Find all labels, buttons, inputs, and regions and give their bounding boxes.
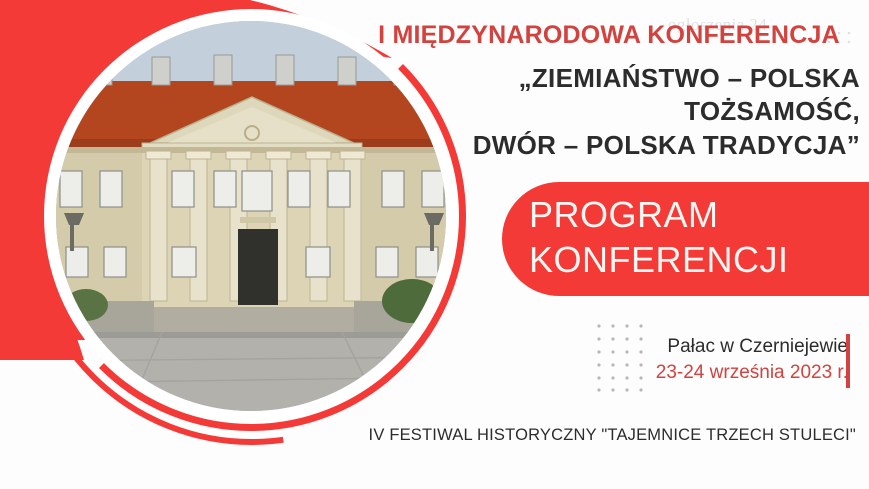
conference-poster: ogłoszenia 24 I MIĘDZYNARODOWA KONFERENC… <box>0 0 869 489</box>
venue-block: Pałac w Czerniejewie 23-24 września 2023… <box>648 334 848 386</box>
banner-line-2: KONFERENCJI <box>529 237 789 282</box>
page-title: I MIĘDZYNARODOWA KONFERENCJA <box>360 22 858 48</box>
venue-date: 23-24 września 2023 r. <box>648 360 848 386</box>
program-banner: PROGRAM KONFERENCJI <box>502 182 869 296</box>
subtitle-line-2: DWÓR – POLSKA TRADYCJA” <box>368 129 860 162</box>
banner-line-1: PROGRAM <box>529 192 789 237</box>
conference-subtitle: „ZIEMIAŃSTWO – POLSKA TOŻSAMOŚĆ, DWÓR – … <box>368 62 860 162</box>
program-banner-text: PROGRAM KONFERENCJI <box>529 192 789 283</box>
subtitle-line-1: „ZIEMIAŃSTWO – POLSKA TOŻSAMOŚĆ, <box>368 62 860 129</box>
festival-footer: IV FESTIWAL HISTORYCZNY "TAJEMNICE TRZEC… <box>356 426 856 445</box>
venue-accent-bar <box>846 334 850 388</box>
venue-location: Pałac w Czerniejewie <box>648 334 848 360</box>
dot-grid-decoration <box>595 322 647 394</box>
